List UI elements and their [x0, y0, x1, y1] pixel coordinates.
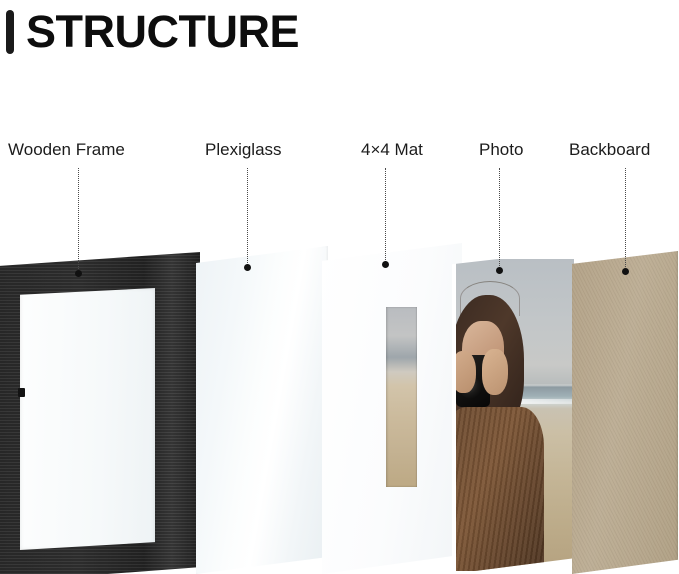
leader-dot-mat: [382, 261, 389, 268]
part-label-backboard: Backboard: [569, 140, 650, 160]
leader-line-backboard: [625, 168, 627, 271]
panel-wooden-frame: [0, 252, 200, 574]
panel-photo: [452, 250, 578, 574]
leader-dot-backboard: [622, 268, 629, 275]
frame-opening: [20, 288, 155, 550]
photo-hand-right: [482, 349, 508, 395]
leader-dot-wooden-frame: [75, 270, 82, 277]
leader-line-plexiglass: [247, 168, 249, 267]
part-label-plexiglass: Plexiglass: [205, 140, 282, 160]
photo-image: [456, 259, 574, 571]
exploded-panel-stack: [0, 0, 679, 574]
structure-infographic: STRUCTURE: [0, 0, 679, 574]
leader-dot-photo: [496, 267, 503, 274]
photo-jacket: [456, 407, 544, 571]
panel-plexiglass: [196, 246, 328, 574]
frame-side-notch: [18, 388, 25, 397]
part-label-mat: 4×4 Mat: [361, 140, 423, 160]
mat-window-opening: [386, 307, 417, 487]
part-label-wooden-frame: Wooden Frame: [8, 140, 125, 160]
photo-hand-left: [456, 351, 476, 393]
part-label-photo: Photo: [479, 140, 523, 160]
panel-mat: [322, 243, 462, 574]
leader-line-wooden-frame: [78, 168, 80, 273]
leader-line-mat: [385, 168, 387, 264]
leader-line-photo: [499, 168, 501, 270]
panel-backboard: [572, 251, 678, 574]
leader-dot-plexiglass: [244, 264, 251, 271]
